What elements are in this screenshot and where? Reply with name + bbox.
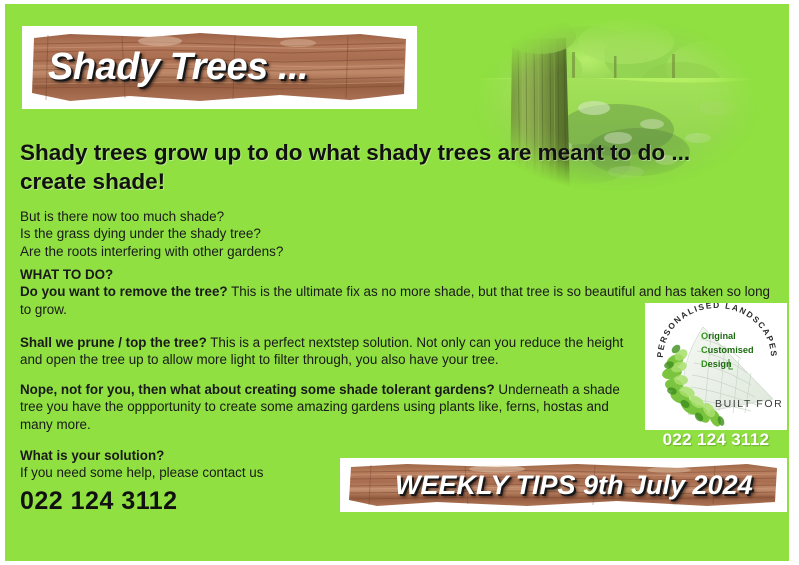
section-solution: What is your solution? If you need some … (20, 447, 350, 517)
logo-line-1: Original (701, 331, 736, 341)
what-to-do-label: WHAT TO DO? (20, 267, 113, 282)
section-shade-tolerant: Nope, not for you, then what about creat… (20, 381, 635, 433)
question-item: But is there now too much shade? (20, 208, 283, 225)
footer-wood-plank: WEEKLY TIPS 9th July 2024 (347, 463, 780, 507)
logo-phone-number[interactable]: 022 124 3112 (645, 430, 787, 450)
question-item: Is the grass dying under the shady tree? (20, 225, 283, 242)
solution-lead: What is your solution? (20, 448, 164, 463)
contact-phone-number[interactable]: 022 124 3112 (20, 485, 350, 518)
remove-lead: Do you want to remove the tree? (20, 284, 228, 299)
solution-body: If you need some help, please contact us (20, 465, 263, 480)
logo-tagline: BUILT FOR YOU (715, 398, 787, 410)
tolerant-lead: Nope, not for you, then what about creat… (20, 382, 495, 397)
header-banner-title: Shady Trees ... (30, 32, 409, 103)
page-headline: Shady trees grow up to do what shady tre… (20, 138, 760, 197)
logo-line-3: Design (701, 359, 732, 369)
prune-lead: Shall we prune / top the tree? (20, 335, 207, 350)
header-wood-plank: Shady Trees ... (30, 32, 409, 103)
question-item: Are the roots interfering with other gar… (20, 243, 283, 260)
section-prune: Shall we prune / top the tree? This is a… (20, 334, 645, 369)
company-logo: PERSONALISED LANDSCAPES Original Customi… (645, 303, 787, 430)
question-list: But is there now too much shade? Is the … (20, 208, 283, 260)
flyer-page: Shady Trees ... Shady trees grow up to d… (0, 0, 799, 565)
footer-banner-title: WEEKLY TIPS 9th July 2024 (347, 463, 780, 507)
logo-line-2: Customised (701, 345, 754, 355)
